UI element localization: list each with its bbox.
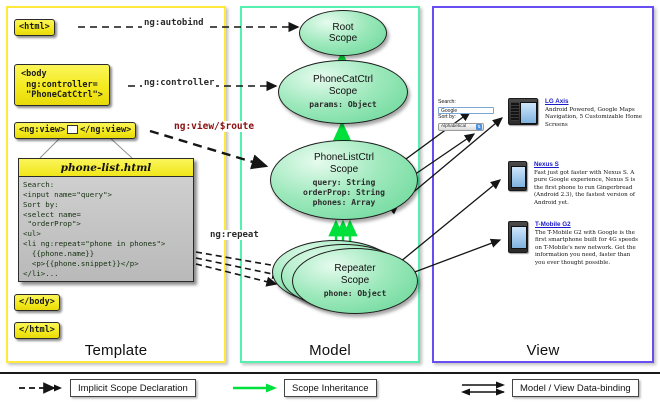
note-code: Search: <input name="query"> Sort by: <s… [18, 176, 194, 282]
order-prop-select[interactable]: Alphabetical ⇅ [438, 123, 484, 131]
phone-snippet: Fast just got faster with Nexus S. A pur… [534, 170, 638, 207]
scope-phonelistctrl-props: query: String orderProp: String phones: … [303, 178, 385, 208]
scope-root-name: Root Scope [329, 22, 357, 44]
note-title: phone-list.html [18, 158, 194, 176]
label-ng-view-route: ng:view/$route [172, 121, 256, 132]
search-input[interactable]: Google [438, 107, 494, 114]
solid-arrow-icon [232, 381, 278, 395]
label-ng-controller: ng:controller [142, 78, 216, 88]
label-ng-repeat: ng:repeat [208, 230, 261, 240]
phone-snippet: Android Powered, Google Maps Navigation,… [545, 107, 649, 129]
scope-phonecatctrl: PhoneCatCtrl Scope params: Object [278, 60, 408, 124]
label-ng-autobind: ng:autobind [142, 18, 206, 28]
phone-name-link[interactable]: Nexus S [534, 161, 638, 168]
scope-phonecatctrl-name: PhoneCatCtrl Scope [313, 74, 373, 96]
tag-ng-view-close: </ng:view> [80, 125, 131, 135]
t-mobile-g2-handset-icon [508, 221, 528, 267]
legend-item-scope-inheritance: Scope Inheritance [232, 379, 377, 397]
phone-snippet: The T-Mobile G2 with Google is the first… [535, 230, 639, 267]
column-label-view: View [434, 342, 652, 359]
legend-label: Implicit Scope Declaration [70, 379, 196, 397]
scope-root: Root Scope [299, 10, 387, 56]
scope-phonelistctrl: PhoneListCtrl Scope query: String orderP… [270, 140, 418, 220]
tag-ng-view: <ng:view></ng:view> [14, 122, 136, 139]
ng-view-placeholder-icon [67, 125, 78, 134]
list-item[interactable]: T-Mobile G2 The T-Mobile G2 with Google … [508, 221, 639, 267]
scope-repeater: Repeater Scope phone: Object [292, 248, 418, 314]
chevron-updown-icon: ⇅ [476, 124, 482, 130]
double-arrow-icon [460, 380, 506, 397]
phone-list-template-note: phone-list.html Search: <input name="que… [18, 158, 194, 282]
scope-phonelistctrl-name: PhoneListCtrl Scope [314, 152, 374, 174]
legend-label: Scope Inheritance [284, 379, 377, 397]
column-label-model: Model [242, 342, 418, 359]
lg-axis-handset-icon [508, 98, 538, 129]
phone-name-link[interactable]: T-Mobile G2 [535, 221, 639, 228]
diagram-canvas: Template Model View [0, 0, 660, 405]
column-label-template: Template [8, 342, 224, 359]
scope-repeater-name: Repeater Scope [334, 263, 375, 285]
search-label: Search: [438, 99, 500, 107]
search-form: Search: Google Sort by: Alphabetical ⇅ [438, 99, 500, 131]
list-item[interactable]: LG Axis Android Powered, Google Maps Nav… [508, 98, 649, 129]
phone-name-link[interactable]: LG Axis [545, 98, 649, 105]
sort-by-label: Sort by: [438, 114, 500, 122]
list-item[interactable]: Nexus S Fast just got faster with Nexus … [508, 161, 638, 207]
tag-html-open: <html> [14, 19, 55, 36]
legend-item-implicit-scope: Implicit Scope Declaration [18, 379, 196, 397]
order-prop-value: Alphabetical [441, 123, 466, 130]
tag-ng-view-open: <ng:view> [19, 125, 65, 135]
legend: Implicit Scope Declaration Scope Inherit… [0, 372, 660, 407]
tag-html-close: </html> [14, 322, 60, 339]
tag-body-close: </body> [14, 294, 60, 311]
scope-phonecatctrl-props: params: Object [309, 100, 376, 110]
tag-body-open: <body ng:controller= "PhoneCatCtrl"> [14, 64, 110, 106]
legend-item-data-binding: Model / View Data-binding [460, 379, 639, 397]
dashed-arrow-icon [18, 381, 64, 395]
nexus-s-handset-icon [508, 161, 527, 207]
scope-repeater-props: phone: Object [324, 289, 387, 299]
legend-label: Model / View Data-binding [512, 379, 639, 397]
